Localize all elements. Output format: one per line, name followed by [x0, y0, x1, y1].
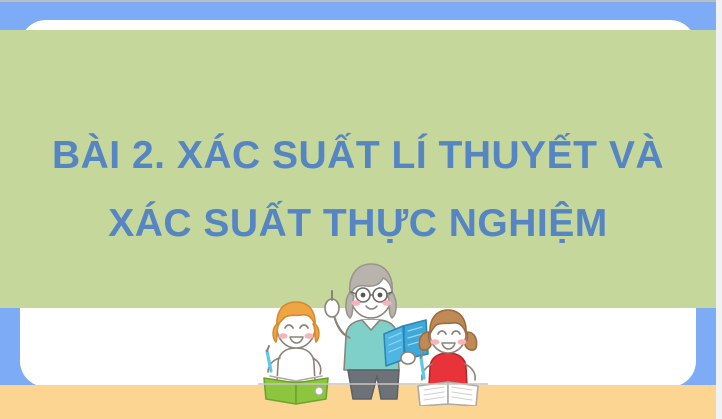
page-title-line-1: BÀI 2. XÁC SUẤT LÍ THUYẾT VÀ — [0, 122, 716, 190]
teacher-and-two-students-illustration — [258, 258, 488, 406]
page-title-line-2: XÁC SUẤT THỰC NGHIỆM — [0, 190, 716, 258]
page-title: BÀI 2. XÁC SUẤT LÍ THUYẾT VÀ XÁC SUẤT TH… — [0, 122, 716, 258]
slide-canvas: BÀI 2. XÁC SUẤT LÍ THUYẾT VÀ XÁC SUẤT TH… — [0, 0, 722, 419]
right-edge-divider — [716, 0, 722, 419]
